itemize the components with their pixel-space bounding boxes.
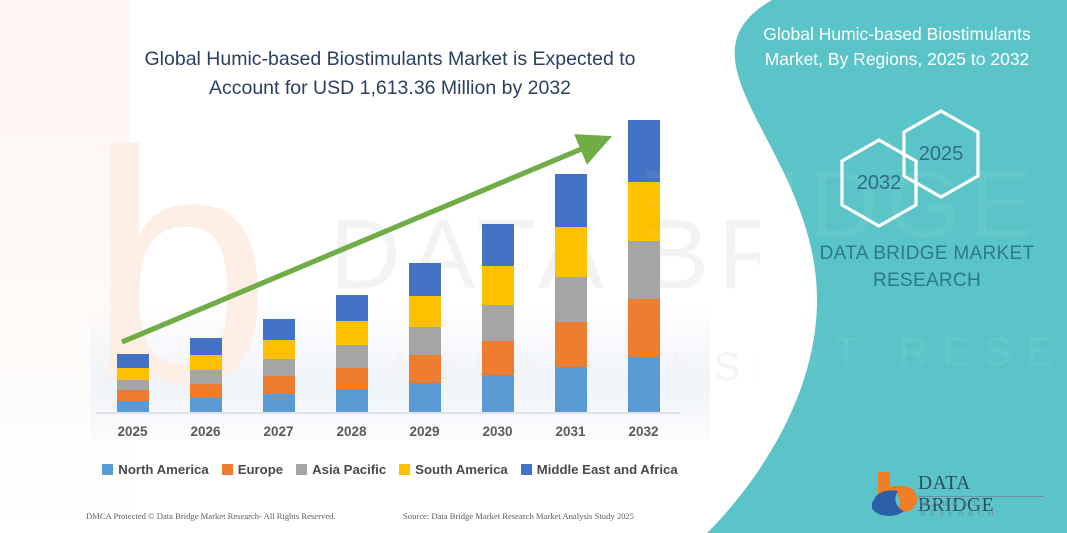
bar-segment xyxy=(190,398,222,413)
bar-segment xyxy=(409,296,441,326)
bar-segment xyxy=(263,359,295,376)
bar-segment xyxy=(263,394,295,413)
bar-column-2032 xyxy=(628,120,660,413)
bar-segment xyxy=(409,383,441,413)
chart-title: Global Humic-based Biostimulants Market … xyxy=(125,45,655,103)
bar-segment xyxy=(482,266,514,305)
bar-segment xyxy=(628,241,660,299)
legend-label: Asia Pacific xyxy=(312,462,386,477)
legend-swatch-icon xyxy=(296,464,307,475)
legend-item-europe[interactable]: Europe xyxy=(222,462,283,477)
legend-item-south-america[interactable]: South America xyxy=(399,462,508,477)
bar-segment xyxy=(482,305,514,341)
data-bridge-logo: DATA BRIDGE MARKET RESEARCH xyxy=(872,470,1047,518)
right-panel-brand: DATA BRIDGE MARKET RESEARCH xyxy=(782,240,1067,294)
right-panel-title: Global Humic-based Biostimulants Market,… xyxy=(742,22,1052,72)
bar-segment xyxy=(117,354,149,368)
legend-label: South America xyxy=(415,462,508,477)
x-axis-labels: 20252026202720282029203020312032 xyxy=(96,424,680,446)
x-axis-label-2032: 2032 xyxy=(608,424,680,439)
bar-segment xyxy=(336,345,368,368)
hex-badge-2025: 2025 xyxy=(900,108,982,200)
footer-copyright: DMCA Protected © Data Bridge Market Rese… xyxy=(86,511,336,521)
bar-segment xyxy=(555,367,587,413)
x-axis-label-2030: 2030 xyxy=(462,424,534,439)
legend-item-asia-pacific[interactable]: Asia Pacific xyxy=(296,462,386,477)
bar-segment xyxy=(263,319,295,340)
bar-segment xyxy=(190,355,222,370)
x-axis-label-2025: 2025 xyxy=(97,424,169,439)
bar-segment xyxy=(555,227,587,277)
bar-segment xyxy=(190,370,222,384)
chart-baseline xyxy=(96,412,680,414)
stacked-bar-chart xyxy=(96,120,680,413)
logo-text-secondary: MARKET RESEARCH xyxy=(920,498,1047,518)
bar-segment xyxy=(555,322,587,366)
bar-column-2027 xyxy=(263,120,295,413)
bar-column-2030 xyxy=(482,120,514,413)
bar-segment xyxy=(482,224,514,266)
legend-swatch-icon xyxy=(222,464,233,475)
logo-divider xyxy=(918,496,1044,497)
legend-swatch-icon xyxy=(102,464,113,475)
x-axis-label-2029: 2029 xyxy=(389,424,461,439)
bar-segment xyxy=(263,340,295,359)
legend-swatch-icon xyxy=(399,464,410,475)
bar-column-2025 xyxy=(117,120,149,413)
bar-segment xyxy=(117,380,149,391)
bar-segment xyxy=(628,182,660,241)
bar-segment xyxy=(409,327,441,355)
bar-segment xyxy=(117,368,149,380)
bar-column-2031 xyxy=(555,120,587,413)
bar-column-2026 xyxy=(190,120,222,413)
bar-segment xyxy=(409,355,441,383)
bar-segment xyxy=(336,389,368,413)
bar-segment xyxy=(555,277,587,322)
bar-segment xyxy=(117,390,149,401)
bar-segment xyxy=(190,384,222,398)
chart-legend: North AmericaEuropeAsia PacificSouth Ame… xyxy=(100,459,680,479)
legend-label: Europe xyxy=(238,462,283,477)
legend-label: Middle East and Africa xyxy=(537,462,678,477)
bar-segment xyxy=(263,376,295,393)
legend-item-north-america[interactable]: North America xyxy=(102,462,208,477)
legend-swatch-icon xyxy=(521,464,532,475)
bar-segment xyxy=(482,341,514,376)
x-axis-label-2031: 2031 xyxy=(535,424,607,439)
bar-segment xyxy=(336,321,368,345)
x-axis-label-2028: 2028 xyxy=(316,424,388,439)
bar-column-2029 xyxy=(409,120,441,413)
bar-segment xyxy=(628,357,660,413)
hex-badge-2025-label: 2025 xyxy=(900,108,982,200)
bar-segment xyxy=(628,299,660,356)
bar-segment xyxy=(190,338,222,354)
legend-label: North America xyxy=(118,462,208,477)
x-axis-label-2026: 2026 xyxy=(170,424,242,439)
infographic-canvas: b DATA BRIDGE MARKET RESEARCH Global Hum… xyxy=(0,0,1067,533)
bar-segment xyxy=(482,375,514,413)
footer-source: Source: Data Bridge Market Research Mark… xyxy=(403,511,634,521)
bar-segment xyxy=(409,263,441,297)
bar-column-2028 xyxy=(336,120,368,413)
x-axis-label-2027: 2027 xyxy=(243,424,315,439)
legend-item-middle-east-and-africa[interactable]: Middle East and Africa xyxy=(521,462,678,477)
bar-segment xyxy=(336,368,368,390)
bar-segment xyxy=(336,295,368,321)
bar-segment xyxy=(555,174,587,227)
bar-segment xyxy=(628,120,660,182)
